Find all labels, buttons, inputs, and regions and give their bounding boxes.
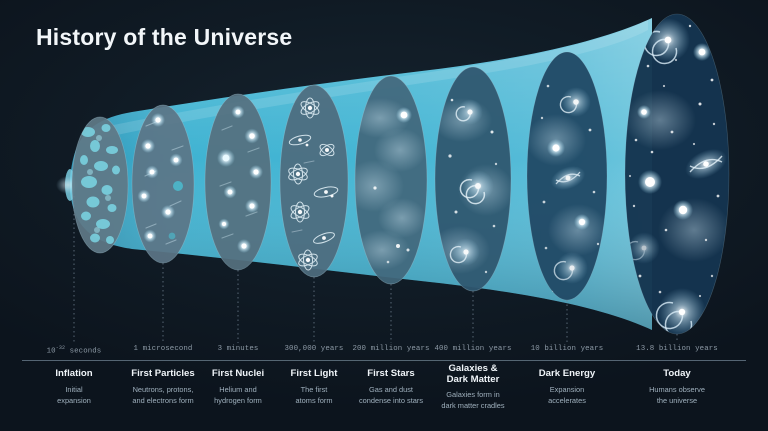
stage-desc-line2: accelerates <box>507 396 627 407</box>
stage-desc-dark-energy: Expansion accelerates <box>507 385 627 406</box>
cosmic-funnel-illustration <box>0 0 768 431</box>
stage-name-dark-energy: Dark Energy <box>507 368 627 379</box>
time-base-0: 10 <box>47 347 56 355</box>
stage-desc-today: Humans observe the universe <box>615 385 739 406</box>
epoch-panel-dark-energy <box>526 52 608 300</box>
stage-desc-line1: Expansion <box>507 385 627 396</box>
stage-name-today: Today <box>615 368 739 379</box>
stage-desc-line1: Humans observe <box>615 385 739 396</box>
time-unit-0: seconds <box>65 347 101 355</box>
epoch-panel-first-nuclei <box>205 94 271 270</box>
time-label-7: 13.8 billion years <box>615 345 739 353</box>
epoch-panel-inflation <box>72 117 128 253</box>
time-exponent-0: -32 <box>56 345 65 351</box>
infographic-canvas: History of the Universe <box>0 0 768 431</box>
stage-desc-line2: the universe <box>615 396 739 407</box>
time-label-6: 10 billion years <box>507 345 627 353</box>
epoch-panel-first-light <box>280 85 348 277</box>
epoch-panel-first-particles <box>132 105 194 263</box>
